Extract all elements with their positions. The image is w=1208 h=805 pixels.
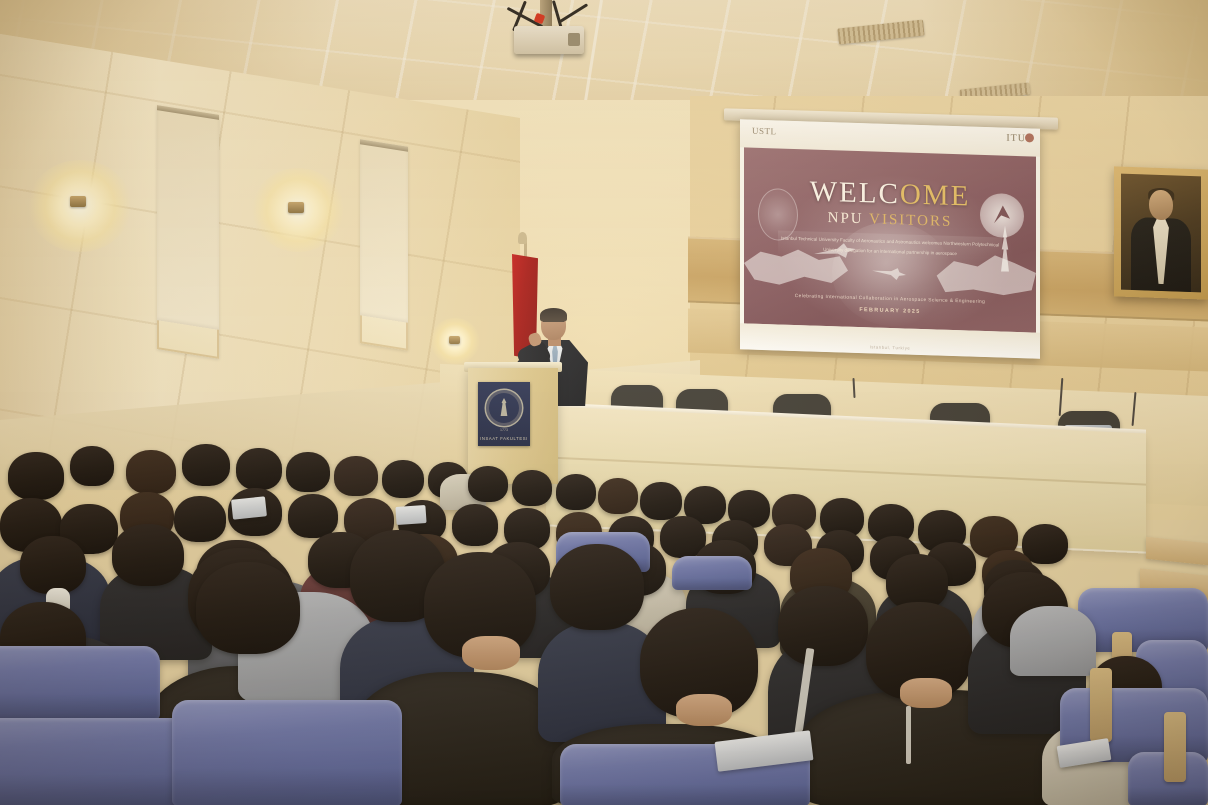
slide-subtitle-part2: VISITORS — [869, 211, 952, 230]
audience-head — [112, 524, 184, 586]
projector-lens-icon — [568, 33, 580, 46]
window-left — [157, 105, 219, 359]
slide-title-part1: WELC — [810, 175, 900, 210]
audience-head — [8, 452, 64, 500]
portrait-head — [1149, 190, 1173, 221]
audience-head — [556, 474, 596, 510]
audience-neck — [900, 678, 952, 708]
wall-sconce — [70, 196, 86, 207]
seat-armrest — [1164, 712, 1186, 782]
audience-head — [70, 446, 114, 486]
speaker-hair — [540, 308, 567, 322]
audience-torso — [1010, 606, 1096, 676]
audience-head — [598, 478, 638, 514]
audience-head — [196, 562, 300, 654]
slide-subtitle-part1: NPU — [828, 210, 870, 227]
university-seal-icon — [486, 390, 522, 426]
projection-screen: USTL ITU WELCOME NPU VISITORS Istanbul T… — [740, 119, 1040, 358]
audience-head — [452, 504, 498, 546]
audience-head — [126, 450, 176, 494]
tablet-screen[interactable] — [395, 505, 426, 525]
audience-head — [20, 536, 86, 594]
itu-logo-mark-icon — [1025, 133, 1034, 142]
audience-neck — [462, 636, 520, 670]
seat-armrest — [1090, 668, 1112, 742]
roller-blind[interactable] — [157, 105, 219, 330]
audience-head — [512, 470, 552, 506]
audience-neck — [676, 694, 732, 726]
portrait-image — [1121, 174, 1201, 293]
wall-sconce — [288, 202, 304, 213]
audience-head — [236, 448, 282, 490]
lectern-plaque: 1773 INSAAT FAKULTESI — [478, 382, 530, 446]
audience-head — [286, 452, 330, 492]
aisle-step — [1146, 537, 1208, 566]
seat-row[interactable] — [172, 700, 402, 805]
audience-head — [174, 496, 226, 542]
audience-head — [640, 482, 682, 520]
plaque-year: 1773 — [478, 428, 530, 432]
framed-portrait — [1114, 166, 1208, 299]
wall-sconce — [449, 336, 460, 344]
tablet-screen[interactable] — [231, 496, 267, 519]
ceiling-projector — [514, 26, 584, 54]
seat-row[interactable] — [0, 718, 200, 805]
window-right — [360, 139, 408, 351]
itu-logo: ITU — [1006, 133, 1026, 145]
audience-head — [550, 544, 644, 630]
welcome-slide: WELCOME NPU VISITORS Istanbul Technical … — [744, 147, 1036, 332]
roller-blind[interactable] — [360, 139, 408, 323]
plaque-faculty-text: INSAAT FAKULTESI — [478, 436, 530, 441]
seat-row[interactable] — [0, 646, 160, 720]
audience-head — [182, 444, 230, 486]
slide-title-part2: OME — [900, 178, 970, 212]
ustl-logo: USTL — [752, 126, 777, 137]
zipper-pull — [906, 706, 911, 764]
seat-row[interactable] — [672, 556, 752, 590]
audience-head — [288, 494, 338, 538]
auditorium-photo: USTL ITU WELCOME NPU VISITORS Istanbul T… — [0, 0, 1208, 805]
audience-head — [334, 456, 378, 496]
flag-finial-icon — [518, 232, 527, 244]
audience-head — [382, 460, 424, 498]
audience-head — [468, 466, 508, 502]
audience-head — [778, 586, 868, 666]
